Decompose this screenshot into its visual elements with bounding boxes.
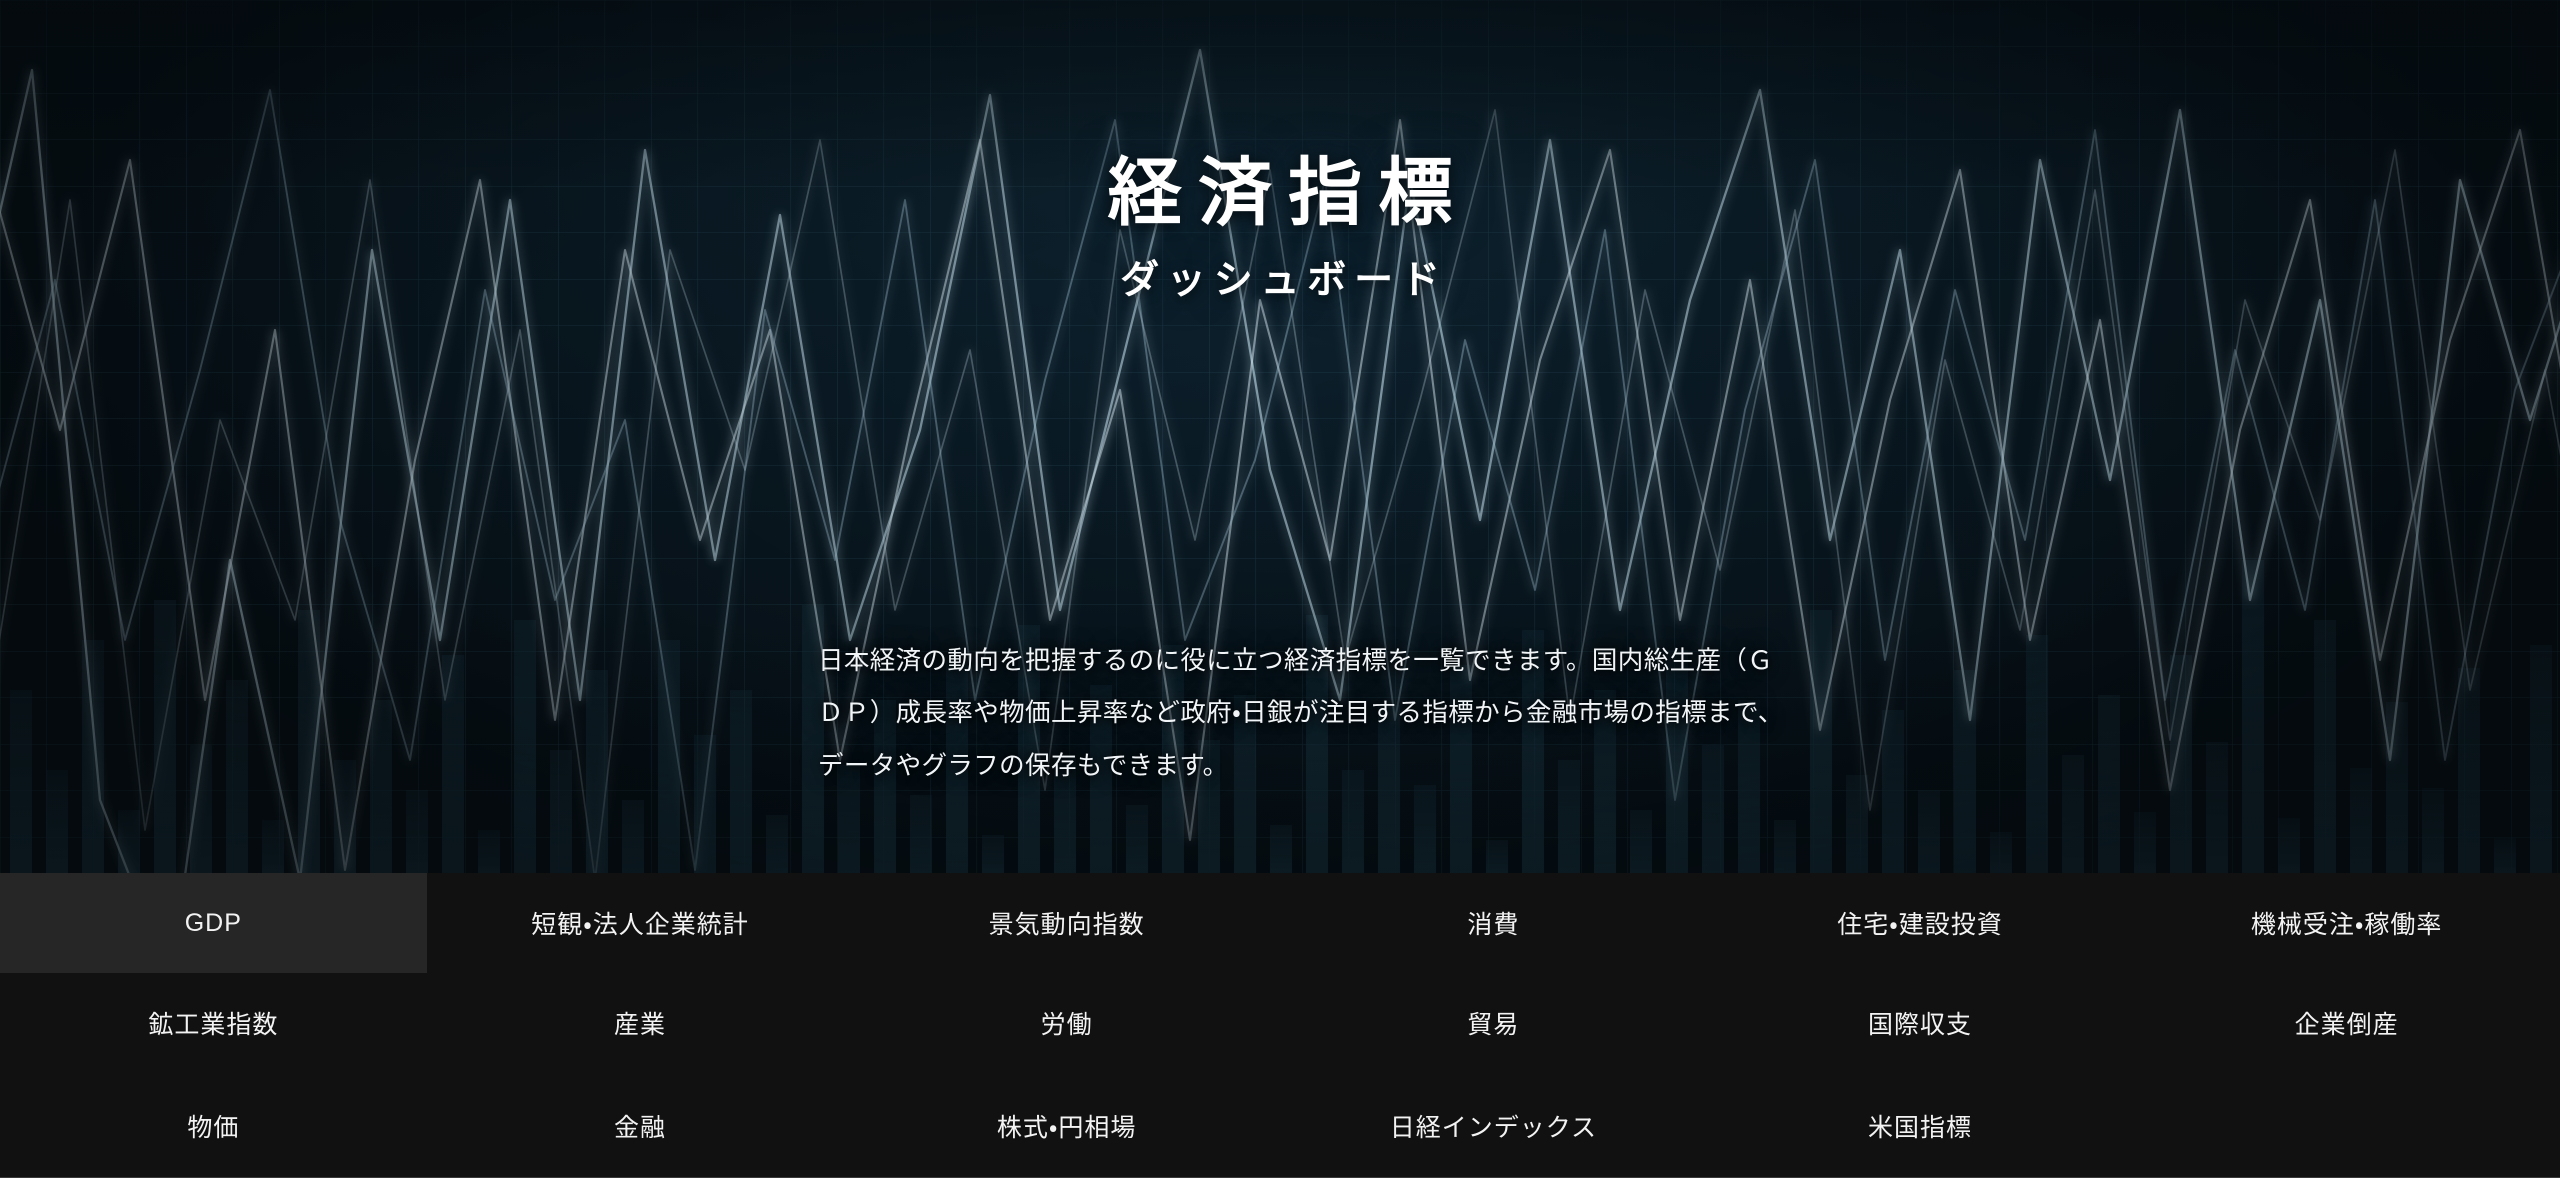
nav-item-label: 住宅・建設投資 <box>1837 905 2003 941</box>
nav-item-label: 産業 <box>614 1005 666 1041</box>
nav-item-label: 国際収支 <box>1868 1005 1972 1041</box>
nav-item-label: 機械受注・稼働率 <box>2251 905 2443 941</box>
nav-item-4[interactable]: 住宅・建設投資 <box>1707 873 2134 973</box>
nav-item-label: GDP <box>185 909 242 938</box>
nav-item-label: 鉱工業指数 <box>148 1005 278 1041</box>
nav-item-8[interactable]: 労働 <box>853 973 1280 1073</box>
nav-item-16[interactable]: 米国指標 <box>1707 1073 2134 1178</box>
nav-item-11[interactable]: 企業倒産 <box>2133 973 2560 1073</box>
nav-item-2[interactable]: 景気動向指数 <box>853 873 1280 973</box>
hero-description: 日本経済の動向を把握するのに役に立つ経済指標を一覧できます。国内総生産（ＧＤＰ）… <box>765 635 1795 792</box>
hero-content: 経済指標 ダッシュボード 日本経済の動向を把握するのに役に立つ経済指標を一覧でき… <box>0 0 2560 873</box>
nav-item-label: 米国指標 <box>1868 1108 1972 1144</box>
nav-item-label: 物価 <box>187 1108 239 1144</box>
nav-item-5[interactable]: 機械受注・稼働率 <box>2133 873 2560 973</box>
nav-item-label: 労働 <box>1041 1005 1093 1041</box>
nav-item-9[interactable]: 貿易 <box>1280 973 1707 1073</box>
nav-item-1[interactable]: 短観・法人企業統計 <box>427 873 854 973</box>
nav-item-0[interactable]: GDP <box>0 873 427 973</box>
nav-item-label: 消費 <box>1467 905 1519 941</box>
hero-title-block: 経済指標 ダッシュボード <box>0 152 2560 305</box>
page-root: 経済指標 ダッシュボード 日本経済の動向を把握するのに役に立つ経済指標を一覧でき… <box>0 0 2560 1178</box>
category-nav[interactable]: GDP短観・法人企業統計景気動向指数消費住宅・建設投資機械受注・稼働率鉱工業指数… <box>0 873 2560 1178</box>
nav-item-6[interactable]: 鉱工業指数 <box>0 973 427 1073</box>
hero-banner: 経済指標 ダッシュボード 日本経済の動向を把握するのに役に立つ経済指標を一覧でき… <box>0 0 2560 873</box>
nav-item-label: 日経インデックス <box>1390 1108 1597 1144</box>
nav-item-label: 景気動向指数 <box>989 905 1145 941</box>
nav-item-14[interactable]: 株式・円相場 <box>853 1073 1280 1178</box>
hero-description-text: 日本経済の動向を把握するのに役に立つ経済指標を一覧できます。国内総生産（ＧＤＰ）… <box>818 635 1795 792</box>
nav-item-10[interactable]: 国際収支 <box>1707 973 2134 1073</box>
nav-item-7[interactable]: 産業 <box>427 973 854 1073</box>
nav-item-label: 貿易 <box>1467 1005 1519 1041</box>
nav-item-12[interactable]: 物価 <box>0 1073 427 1178</box>
nav-item-placeholder <box>2133 1073 2560 1178</box>
nav-item-label: 金融 <box>614 1108 666 1144</box>
page-title: 経済指標 <box>0 152 2560 235</box>
nav-item-label: 株式・円相場 <box>997 1108 1137 1144</box>
nav-item-15[interactable]: 日経インデックス <box>1280 1073 1707 1178</box>
nav-item-13[interactable]: 金融 <box>427 1073 854 1178</box>
nav-item-label: 企業倒産 <box>2295 1005 2399 1041</box>
nav-item-label: 短観・法人企業統計 <box>531 905 749 941</box>
page-subtitle: ダッシュボード <box>0 249 2560 305</box>
nav-item-3[interactable]: 消費 <box>1280 873 1707 973</box>
